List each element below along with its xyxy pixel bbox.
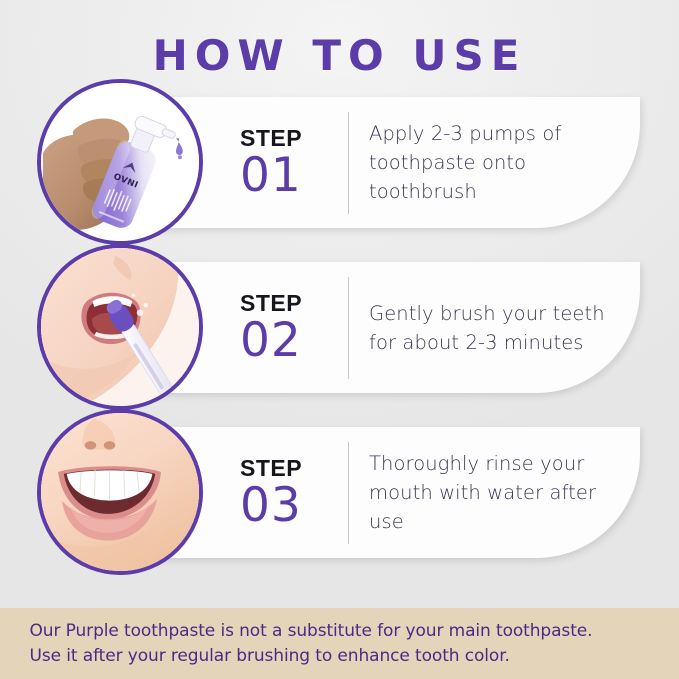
step-divider <box>348 277 349 379</box>
disclaimer-banner: Our Purple toothpaste is not a substitut… <box>0 608 679 679</box>
step-description: Gently brush your teeth for about 2-3 mi… <box>369 299 640 357</box>
smiling-white-teeth-photo <box>37 409 203 575</box>
step-card: STEP 03 Thoroughly rinse your mouth with… <box>136 427 640 558</box>
smile-illustration <box>41 413 199 571</box>
step-word: STEP <box>240 455 336 481</box>
step-label-block: STEP 03 <box>240 455 344 531</box>
step-word: STEP <box>240 125 336 151</box>
disclaimer-line-2: Use it after your regular brushing to en… <box>30 644 650 669</box>
step-description: Apply 2-3 pumps of toothpaste onto tooth… <box>369 119 640 206</box>
step-number: 03 <box>240 481 336 531</box>
pump-bottle-illustration: OVNI <box>41 83 199 241</box>
how-to-use-infographic: HOW TO USE STEP 01 Apply 2-3 pumps of to… <box>0 0 679 679</box>
step-label-block: STEP 02 <box>240 290 344 366</box>
step-number: 01 <box>240 151 336 201</box>
step-card: STEP 02 Gently brush your teeth for abou… <box>136 262 640 393</box>
step-divider <box>348 112 349 214</box>
step-label-block: STEP 01 <box>240 125 344 201</box>
brushing-teeth-photo <box>37 244 203 410</box>
step-card: STEP 01 Apply 2-3 pumps of toothpaste on… <box>136 97 640 228</box>
hand-holding-pump-bottle-photo: OVNI <box>37 79 203 245</box>
step-word: STEP <box>240 290 336 316</box>
brushing-illustration <box>41 248 199 406</box>
disclaimer-line-1: Our Purple toothpaste is not a substitut… <box>30 619 650 644</box>
step-description: Thoroughly rinse your mouth with water a… <box>369 449 640 536</box>
step-divider <box>348 442 349 544</box>
page-title: HOW TO USE <box>0 30 679 82</box>
step-number: 02 <box>240 316 336 366</box>
